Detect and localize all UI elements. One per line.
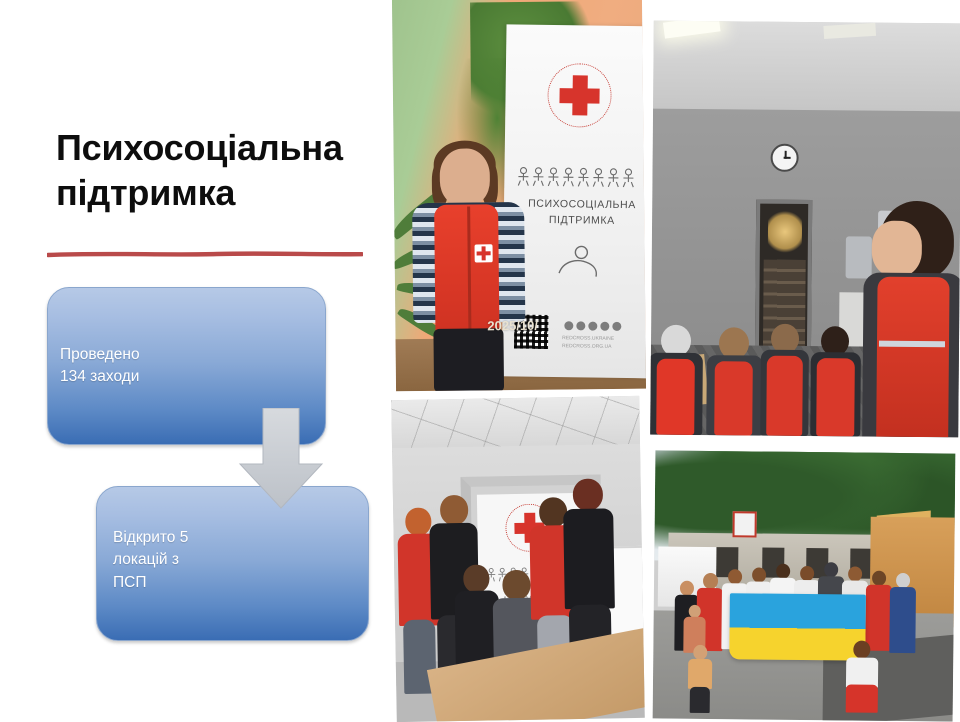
social-icons-row [564,321,644,331]
photo-ceiling [653,21,960,120]
facebook-icon [564,321,573,330]
photo-outdoor-group-with-flag [653,450,956,721]
door-light-glow [768,210,802,254]
crowd-member-child [687,645,714,713]
page-title-line-2: підтримка [56,171,386,216]
volunteer-person [412,148,527,391]
page-title: Психосоціальна підтримка [56,126,386,215]
flow-box-locations-label: Відкрито 5 локацій з ПСП [113,527,188,594]
red-cross-icon [547,63,612,128]
people-chain-graphic [516,164,644,188]
telegram-icon [612,322,621,331]
banner-footer-line-2: REDCROSS.ORG.UA [562,343,646,352]
instagram-icon [576,321,585,330]
seated-participant [650,325,705,436]
red-cross-badge-icon [475,244,493,262]
seated-participant [706,327,763,435]
banner-heading-line-2: ПІДТРИМКА [512,212,646,230]
photo-group-with-banner: АЧЫПАЦЫСОЦІ ПІДТРИМ [391,396,645,722]
arrow-down-icon [238,408,324,509]
photo-volunteer-with-pss-banner: ПСИХОСОЦІАЛЬНА ПІДТРИМКА REDCROSS.UKRAIN… [392,0,646,391]
crowd-member-kneeling [845,640,880,712]
slide-canvas: Психосоціальна підтримка Проведено 134 з… [0,0,960,720]
crowd-member [865,571,892,651]
crowd-member [889,573,916,653]
flow-box-activities-label: Проведено 134 заходи [60,344,140,389]
wall-clock-icon [770,144,798,172]
support-hands-icon [555,243,599,278]
photo-group-session-indoor [650,21,960,438]
banner-heading: ПСИХОСОЦІАЛЬНА ПІДТРИМКА [512,196,646,229]
twitter-icon [600,322,609,331]
banner-heading-line-1: ПСИХОСОЦІАЛЬНА [512,196,646,214]
title-underline-rule [47,249,363,260]
basketball-hoop-icon [733,511,757,537]
photo-date-stamp: 2025/10/ [487,318,538,334]
youtube-icon [588,322,597,331]
facilitator-person [854,200,960,437]
page-title-line-1: Психосоціальна [56,126,386,171]
banner-footer: REDCROSS.UKRAINE REDCROSS.ORG.UA [562,335,646,351]
seated-participant [758,324,811,436]
flow-box-locations[interactable]: Відкрито 5 локацій з ПСП [96,486,369,641]
